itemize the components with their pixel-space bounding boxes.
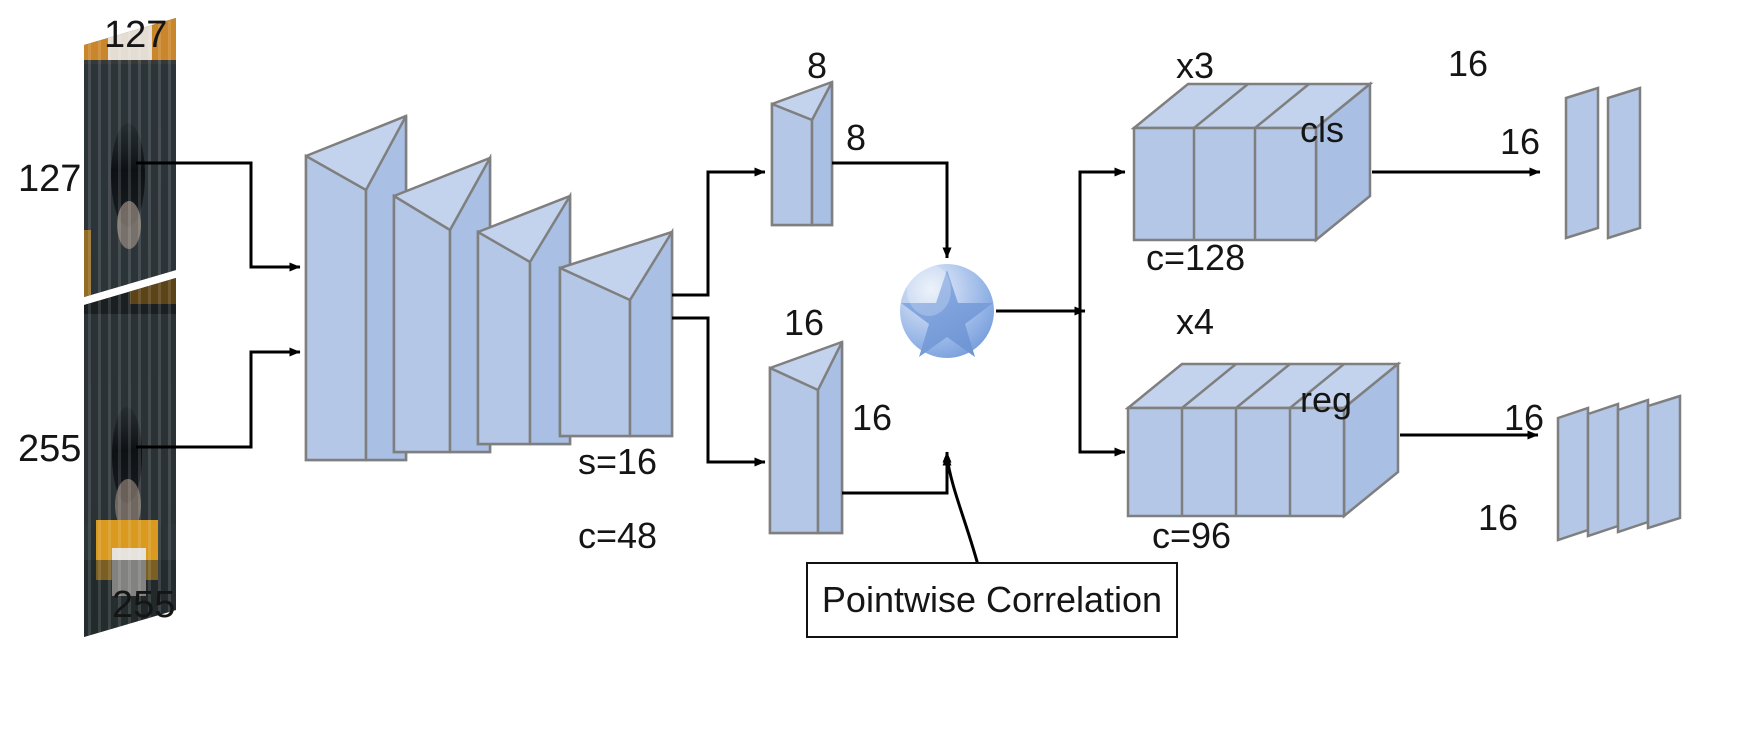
template-width-label: 127: [104, 16, 167, 54]
reg-arrow-label: reg: [1300, 382, 1352, 418]
template-feature-top-label: 8: [807, 48, 827, 84]
search-height-label: 255: [18, 430, 81, 468]
template-feature-block: [772, 82, 832, 225]
template-feature-side-label: 8: [846, 120, 866, 156]
diagram-canvas: 127 127 255 255 s=16 c=48 8 8 16 16 x3 c…: [0, 0, 1758, 740]
pointwise-correlation-node[interactable]: [900, 264, 994, 358]
cls-head-repeat-label: x3: [1176, 48, 1214, 84]
reg-output-bottom-label: 16: [1478, 500, 1518, 536]
reg-head-block: [1128, 364, 1398, 516]
cls-arrow-label: cls: [1300, 112, 1344, 148]
reg-head-repeat-label: x4: [1176, 304, 1214, 340]
backbone-channels-label: c=48: [578, 518, 657, 554]
reg-output-sheets: [1558, 396, 1680, 540]
cls-head-block: [1134, 84, 1370, 240]
search-feature-top-label: 16: [784, 305, 824, 341]
head-split-connectors: [996, 172, 1125, 452]
cls-output-top-label: 16: [1448, 46, 1488, 82]
cls-output-sheets: [1566, 88, 1640, 238]
pointwise-correlation-caption-box: Pointwise Correlation: [806, 562, 1178, 638]
cls-head-channels-label: c=128: [1146, 240, 1245, 276]
reg-output-side-label: 16: [1504, 400, 1544, 436]
pointwise-correlation-caption: Pointwise Correlation: [822, 579, 1162, 621]
backbone-stage-1: [306, 116, 406, 460]
reg-head-channels-label: c=96: [1152, 518, 1231, 554]
backbone-split-connectors: [672, 172, 765, 462]
backbone-stride-label: s=16: [578, 444, 657, 480]
cls-output-side-label: 16: [1500, 124, 1540, 160]
backbone-stage-4: [560, 232, 672, 436]
backbone-stage-2: [394, 158, 490, 452]
search-feature-side-label: 16: [852, 400, 892, 436]
search-bottom-label: 255: [112, 586, 175, 624]
backbone-stage-3: [478, 196, 570, 444]
search-feature-block: [770, 342, 842, 533]
template-height-label: 127: [18, 160, 81, 198]
